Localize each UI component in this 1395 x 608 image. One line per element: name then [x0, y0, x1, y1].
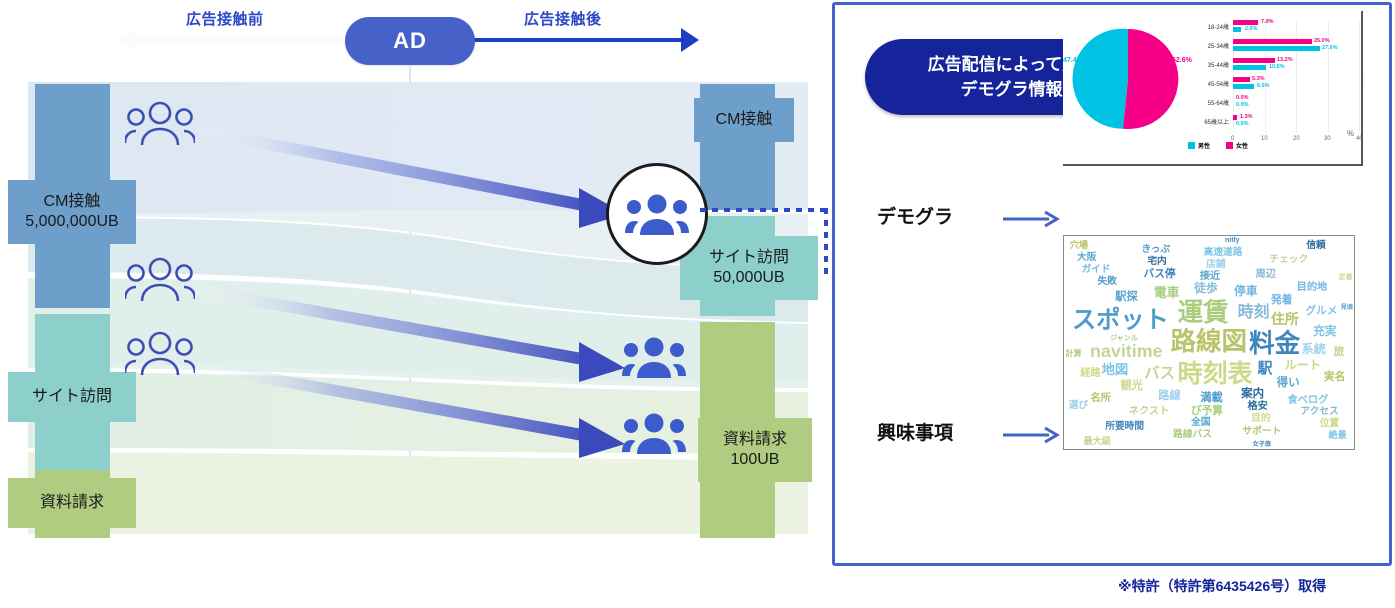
bar-value-female: 5.3%	[1252, 76, 1265, 82]
legend-swatch-male	[1188, 142, 1195, 149]
bar-female	[1233, 77, 1250, 82]
wordcloud-word: 経路	[1080, 369, 1100, 379]
people-group-solid-icon	[622, 336, 686, 383]
bar-female	[1233, 58, 1275, 63]
ad-badge: AD	[345, 17, 475, 65]
wordcloud-word: び予算	[1191, 406, 1223, 417]
interests-arrow-icon	[1003, 426, 1061, 449]
wordcloud-word: 大阪	[1077, 253, 1096, 263]
node-label-line1: CM接触	[44, 192, 101, 212]
node-label-line1: サイト訪問	[709, 248, 789, 268]
wordcloud-word: 接近	[1200, 272, 1220, 282]
connector-dotted-vertical	[824, 208, 828, 280]
wordcloud-word: 高速道路	[1204, 248, 1243, 258]
bar-category-label: 55-64歳	[1189, 98, 1229, 107]
node-label-right-doc-request: 資料請求 100UB	[698, 418, 812, 482]
bar-value-female: 13.2%	[1277, 57, 1293, 63]
wordcloud-word: ネクスト	[1129, 407, 1169, 417]
wordcloud-word: 全国	[1191, 418, 1210, 428]
wordcloud-word: 徒歩	[1194, 283, 1217, 295]
wordcloud-word: チェック	[1269, 255, 1308, 265]
bar-value-female: 1.3%	[1240, 114, 1253, 120]
wordcloud-word: 観光	[1121, 381, 1143, 392]
demographics-label: デモグラ	[877, 202, 953, 229]
wordcloud-word: navitime	[1090, 343, 1163, 361]
after-arrow-line	[468, 38, 683, 42]
bar-female	[1233, 39, 1312, 44]
age-gender-bar-chart: 18-24歳 7.9% 2.6% 25-34歳 25.0% 27.6%	[1189, 16, 1359, 134]
bar-female	[1233, 115, 1237, 120]
legend-item-male: 男性	[1188, 141, 1210, 150]
patent-footnote: ※特許（特許第6435426号）取得	[1118, 576, 1326, 596]
wordcloud-word: 食べログ	[1288, 396, 1329, 406]
legend-label-male: 男性	[1198, 141, 1210, 150]
wordcloud-word: 絶景	[1328, 431, 1346, 440]
people-group-outline-icon	[125, 256, 195, 309]
wordcloud-word: 案内	[1241, 389, 1264, 401]
node-label-left-doc-request: 資料請求	[8, 478, 136, 528]
bar-category-label: 35-44歳	[1189, 60, 1229, 69]
wordcloud-word: 宅内	[1147, 257, 1166, 267]
interests-wordcloud[interactable]: 路線図運賃料金時刻表スポットnavitime時刻バス駅住所地図電車系統ルート徒歩…	[1063, 235, 1355, 450]
wordcloud-word: 路線バス	[1173, 430, 1212, 440]
wordcloud-word: 見頃	[1341, 305, 1353, 311]
wordcloud-word: バス	[1144, 366, 1175, 381]
wordcloud-word: 満載	[1200, 393, 1222, 404]
before-arrow-head-icon	[118, 28, 135, 52]
slide-canvas: 広告接触前 広告接触後 AD	[0, 0, 1395, 608]
wordcloud-word: 停車	[1234, 286, 1257, 298]
x-tick: 30	[1324, 136, 1331, 142]
wordcloud-word: 料金	[1249, 332, 1300, 358]
node-label-line1: 資料請求	[40, 493, 104, 513]
wordcloud-word: 目的地	[1297, 283, 1328, 293]
x-axis-unit-label: %	[1347, 129, 1354, 138]
wordcloud-word: 定番	[1339, 274, 1353, 281]
wordcloud-word: 実名	[1324, 372, 1345, 383]
user-flow-sankey-panel: 広告接触前 広告接触後 AD	[0, 0, 830, 608]
bar-value-male: 0.0%	[1236, 121, 1249, 127]
wordcloud-word: 所要時間	[1105, 422, 1144, 432]
connector-dotted-horizontal	[700, 208, 828, 212]
wordcloud-word: きっぷ	[1141, 245, 1170, 255]
wordcloud-word: グルメ	[1305, 306, 1337, 317]
bar-value-male: 10.5%	[1269, 64, 1285, 70]
wordcloud-word: ジャンル	[1110, 335, 1138, 342]
wordcloud-word: バス停	[1144, 269, 1176, 280]
node-label-line2: 5,000,000UB	[25, 212, 118, 232]
bar-category-label: 25-34歳	[1189, 41, 1229, 50]
bar-value-male: 0.0%	[1236, 102, 1249, 108]
node-label-line2: 50,000UB	[713, 268, 784, 288]
converted-users-highlight[interactable]	[606, 163, 708, 265]
wordcloud-word: 路線	[1158, 391, 1180, 402]
after-arrow-head-icon	[681, 28, 699, 52]
pie-value-male: 47.4%	[1063, 57, 1083, 64]
analysis-panel: 広告配信によって態度変容したユーザーについて デモグラ情報・興味事項を分析、可視…	[832, 2, 1392, 566]
people-group-solid-icon	[625, 193, 689, 235]
wordcloud-word: 周辺	[1256, 270, 1276, 280]
wordcloud-word: 路線図	[1171, 330, 1248, 356]
legend-item-female: 女性	[1226, 141, 1248, 150]
wordcloud-word: 電車	[1154, 287, 1180, 300]
bar-category-label: 65歳以上	[1189, 117, 1229, 126]
gender-pie-chart	[1069, 25, 1187, 138]
bar-category-label: 18-24歳	[1189, 22, 1229, 31]
bar-male	[1233, 84, 1254, 89]
wordcloud-word: 信頼	[1306, 241, 1325, 251]
wordcloud-word: 計算	[1065, 350, 1081, 358]
bar-male	[1233, 27, 1241, 32]
node-label-left-site-visit: サイト訪問	[8, 372, 136, 422]
demographics-arrow-icon	[1003, 210, 1061, 233]
node-label-line1: CM接触	[716, 110, 773, 130]
wordcloud-word: 地図	[1102, 363, 1129, 376]
bar-category-label: 45-54歳	[1189, 79, 1229, 88]
wordcloud-word: 時刻表	[1177, 362, 1252, 387]
wordcloud-word: 時刻	[1238, 305, 1270, 321]
wordcloud-word: アクセス	[1300, 407, 1338, 417]
wordcloud-word: ガイド	[1081, 265, 1110, 275]
x-tick: 40	[1356, 136, 1363, 142]
wordcloud-word: 選び	[1069, 401, 1088, 411]
legend-swatch-female	[1226, 142, 1233, 149]
wordcloud-word: 格安	[1248, 402, 1268, 412]
wordcloud-word: ルート	[1284, 359, 1321, 371]
wordcloud-word: スポット	[1072, 309, 1169, 333]
node-label-left-cm-reach: CM接触 5,000,000UB	[8, 180, 136, 244]
node-label-line1: サイト訪問	[32, 387, 112, 407]
people-group-outline-icon	[125, 100, 195, 153]
before-arrow-line	[128, 38, 343, 42]
wordcloud-word: 店舗	[1206, 260, 1225, 270]
bar-value-female: 7.9%	[1261, 19, 1274, 25]
interests-label: 興味事項	[877, 418, 953, 445]
wordcloud-word: 旅	[1333, 347, 1344, 358]
bar-female	[1233, 20, 1258, 25]
demographics-chart[interactable]: 47.4% 52.6% 18-24歳 7.9% 2.6%	[1063, 11, 1363, 166]
wordcloud-word: 最大級	[1083, 437, 1111, 446]
bar-value-male: 27.6%	[1322, 45, 1338, 51]
node-label-right-site-visit: サイト訪問 50,000UB	[680, 236, 818, 300]
wordcloud-word: 目的	[1251, 414, 1270, 424]
legend-label-female: 女性	[1236, 141, 1248, 150]
wordcloud-word: 位置	[1320, 419, 1339, 429]
bar-value-male: 6.6%	[1257, 83, 1270, 89]
wordcloud-word: 住所	[1271, 312, 1299, 326]
demographics-legend: 男性 女性	[1133, 139, 1303, 151]
bar-male	[1233, 65, 1266, 70]
node-label-line1: 資料請求	[723, 430, 787, 450]
node-label-right-cm-reach: CM接触	[694, 98, 794, 142]
bar-value-male: 2.6%	[1245, 26, 1258, 32]
wordcloud-word: 発着	[1271, 295, 1292, 306]
wordcloud-word: 得い	[1277, 378, 1300, 390]
bar-male	[1233, 46, 1320, 51]
wordcloud-word: 駅	[1258, 362, 1273, 377]
wordcloud-word: 充実	[1313, 326, 1336, 338]
wordcloud-word: 女子旅	[1253, 442, 1271, 448]
wordcloud-word: 失敗	[1097, 277, 1116, 287]
wordcloud-word: nitly	[1225, 237, 1240, 244]
wordcloud-word: 運賃	[1178, 301, 1229, 327]
node-label-line2: 100UB	[731, 450, 780, 470]
wordcloud-word: 名所	[1090, 394, 1110, 404]
wordcloud-word: 駅探	[1115, 292, 1137, 303]
bar-value-female: 0.0%	[1236, 95, 1249, 101]
wordcloud-word: サポート	[1243, 427, 1282, 437]
before-ad-label: 広告接触前	[186, 8, 264, 29]
wordcloud-word: 穴場	[1070, 241, 1088, 250]
after-ad-label: 広告接触後	[524, 8, 602, 29]
people-group-outline-icon	[125, 330, 195, 383]
bar-value-female: 25.0%	[1314, 38, 1330, 44]
people-group-solid-icon	[622, 412, 686, 459]
wordcloud-word: 系統	[1302, 343, 1326, 355]
